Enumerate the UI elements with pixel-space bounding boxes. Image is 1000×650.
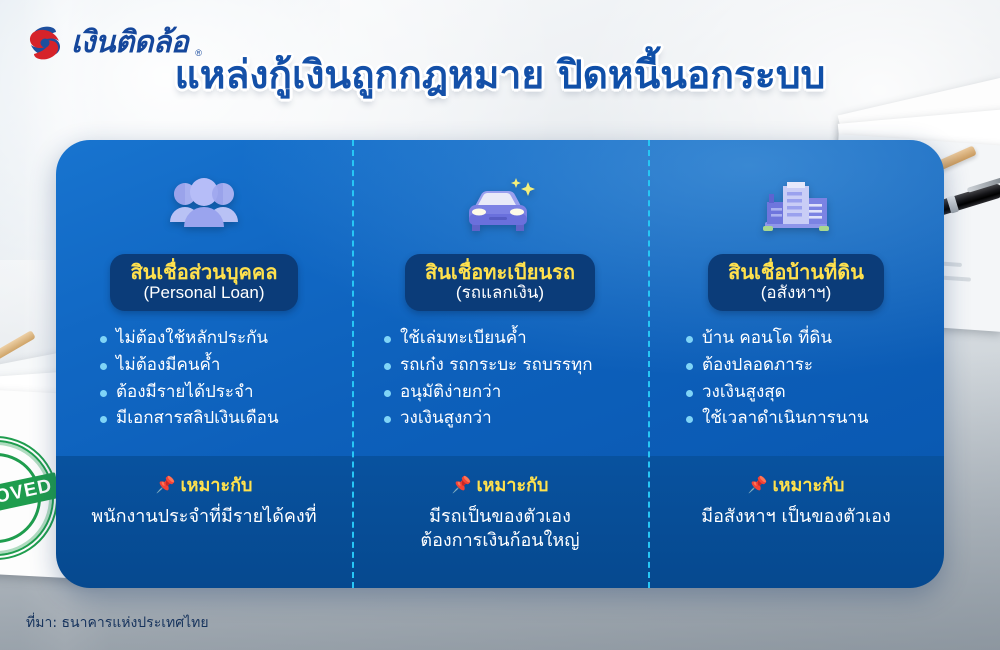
loan-title-english: (อสังหาฯ) bbox=[728, 283, 864, 302]
columns-container: สินเชื่อส่วนบุคคล (Personal Loan) ไม่ต้อ… bbox=[56, 140, 944, 588]
feature-list: ไม่ต้องใช้หลักประกัน ไม่ต้องมีคนค้ำ ต้อง… bbox=[56, 327, 352, 433]
suitable-for-label: เหมาะกับ bbox=[476, 470, 548, 499]
brand-logo-text: เงินติดล้อ bbox=[71, 28, 188, 58]
list-item: ไม่ต้องมีคนค้ำ bbox=[100, 354, 220, 377]
list-item: ไม่ต้องใช้หลักประกัน bbox=[100, 327, 268, 350]
page-title-part1: แหล่งกู้เงินถูกกฎหมาย bbox=[175, 53, 545, 98]
suitable-for-label: เหมาะกับ bbox=[772, 470, 844, 499]
car-icon bbox=[460, 162, 540, 252]
pushpin-icon: 📌 bbox=[452, 477, 472, 493]
feature-list: ใช้เล่มทะเบียนค้ำ รถเก๋ง รถกระบะ รถบรรทุ… bbox=[352, 327, 648, 433]
suitable-for-heading: 📌 เหมาะกับ bbox=[648, 470, 944, 499]
feature-list: บ้าน คอนโด ที่ดิน ต้องปลอดภาระ วงเงินสูง… bbox=[648, 327, 944, 433]
suitable-for-block: 📌 เหมาะกับ มีอสังหาฯ เป็นของตัวเอง bbox=[648, 470, 944, 529]
loan-title-english: (รถแลกเงิน) bbox=[425, 283, 575, 302]
list-item: ใช้เวลาดำเนินการนาน bbox=[686, 407, 869, 430]
loan-title-english: (Personal Loan) bbox=[130, 283, 277, 302]
page-title-part2: ปิดหนี้นอกระบบ bbox=[558, 53, 826, 98]
suitable-for-block: 📌 เหมาะกับ พนักงานประจำที่มีรายได้คงที่ bbox=[56, 470, 352, 529]
comparison-card: สินเชื่อส่วนบุคคล (Personal Loan) ไม่ต้อ… bbox=[56, 140, 944, 588]
loan-column-personal[interactable]: สินเชื่อส่วนบุคคล (Personal Loan) ไม่ต้อ… bbox=[56, 140, 352, 588]
group-of-people-icon bbox=[166, 162, 242, 252]
list-item: ใช้เล่มทะเบียนค้ำ bbox=[384, 327, 527, 350]
suitable-for-heading: 📌 เหมาะกับ bbox=[352, 470, 648, 499]
loan-column-property[interactable]: สินเชื่อบ้านที่ดิน (อสังหาฯ) บ้าน คอนโด … bbox=[648, 140, 944, 588]
loan-column-car-registration[interactable]: สินเชื่อทะเบียนรถ (รถแลกเงิน) ใช้เล่มทะเ… bbox=[352, 140, 648, 588]
suitable-for-text: มีอสังหาฯ เป็นของตัวเอง bbox=[648, 505, 944, 529]
header: เงินติดล้อ ® แหล่งกู้เงินถูกกฎหมาย ปิดหน… bbox=[0, 0, 1000, 130]
loan-title-thai: สินเชื่อบ้านที่ดิน bbox=[728, 261, 864, 283]
loan-type-pill: สินเชื่อส่วนบุคคล (Personal Loan) bbox=[110, 254, 297, 311]
list-item: รถเก๋ง รถกระบะ รถบรรทุก bbox=[384, 354, 593, 377]
loan-type-pill: สินเชื่อทะเบียนรถ (รถแลกเงิน) bbox=[405, 254, 595, 311]
list-item: วงเงินสูงสุด bbox=[686, 381, 786, 404]
suitable-for-text: มีรถเป็นของตัวเอง bbox=[352, 505, 648, 529]
list-item: บ้าน คอนโด ที่ดิน bbox=[686, 327, 832, 350]
buildings-icon bbox=[757, 162, 835, 252]
suitable-for-text: พนักงานประจำที่มีรายได้คงที่ bbox=[56, 505, 352, 529]
source-note: ที่มา: ธนาคารแห่งประเทศไทย bbox=[26, 612, 209, 634]
loan-type-pill: สินเชื่อบ้านที่ดิน (อสังหาฯ) bbox=[708, 254, 884, 311]
suitable-for-heading: 📌 เหมาะกับ bbox=[56, 470, 352, 499]
suitable-for-text: ต้องการเงินก้อนใหญ่ bbox=[352, 529, 648, 553]
suitable-for-label: เหมาะกับ bbox=[180, 470, 252, 499]
pushpin-icon: 📌 bbox=[748, 477, 768, 493]
list-item: วงเงินสูงกว่า bbox=[384, 407, 492, 430]
suitable-for-block: 📌 เหมาะกับ มีรถเป็นของตัวเอง ต้องการเงิน… bbox=[352, 470, 648, 553]
list-item: อนุมัติง่ายกว่า bbox=[384, 381, 501, 404]
pushpin-icon: 📌 bbox=[156, 477, 176, 493]
list-item: ต้องปลอดภาระ bbox=[686, 354, 813, 377]
page-title: แหล่งกู้เงินถูกกฎหมาย ปิดหนี้นอกระบบ bbox=[0, 56, 1000, 97]
list-item: มีเอกสารสลิปเงินเดือน bbox=[100, 407, 279, 430]
loan-title-thai: สินเชื่อทะเบียนรถ bbox=[425, 261, 575, 283]
loan-title-thai: สินเชื่อส่วนบุคคล bbox=[130, 261, 277, 283]
list-item: ต้องมีรายได้ประจำ bbox=[100, 381, 254, 404]
